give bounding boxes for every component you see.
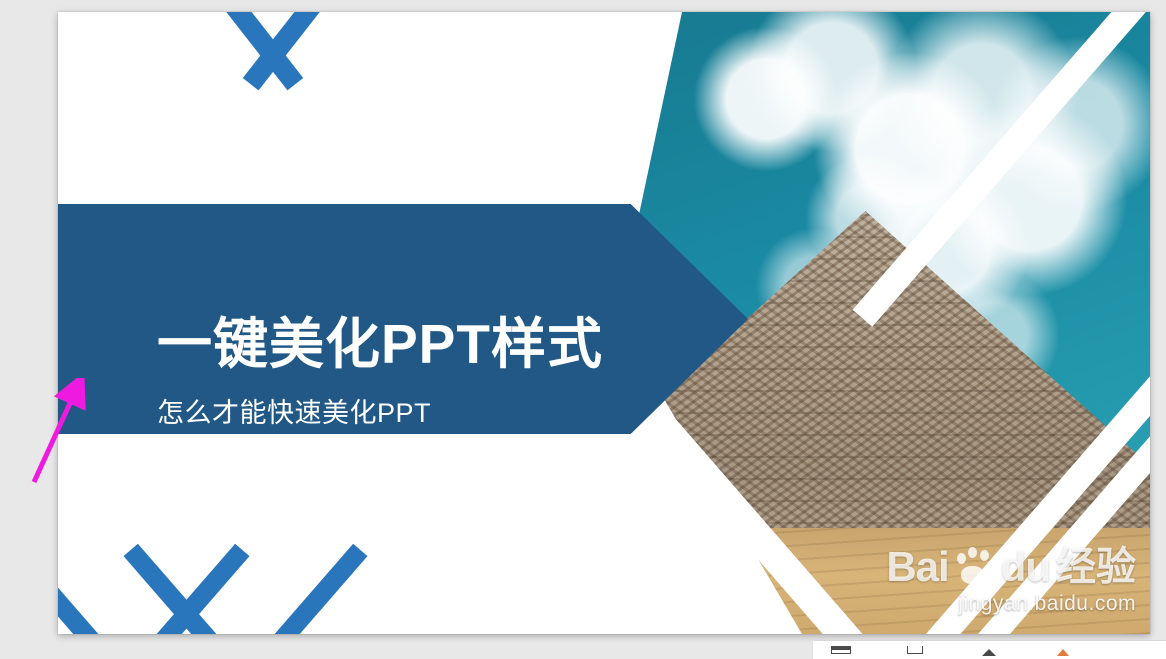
view-status-bar[interactable] bbox=[812, 640, 1166, 659]
slide-title[interactable]: 一键美化PPT样式 bbox=[157, 317, 603, 372]
slide-sorter-view-icon[interactable] bbox=[905, 644, 927, 656]
slideshow-view-icon[interactable] bbox=[1053, 644, 1075, 656]
slide-subtitle[interactable]: 怎么才能快速美化PPT bbox=[157, 400, 431, 427]
reading-view-icon[interactable] bbox=[979, 644, 1001, 656]
slide-canvas[interactable]: Bai du 经验 jingyan.baidu.com 一键美化PPT样式 怎么… bbox=[58, 12, 1150, 634]
application-root: Bai du 经验 jingyan.baidu.com 一键美化PPT样式 怎么… bbox=[0, 0, 1166, 659]
mountain-chevrons-icon bbox=[58, 522, 398, 634]
chevron-down-icon bbox=[163, 12, 363, 76]
normal-view-icon[interactable] bbox=[831, 644, 853, 656]
